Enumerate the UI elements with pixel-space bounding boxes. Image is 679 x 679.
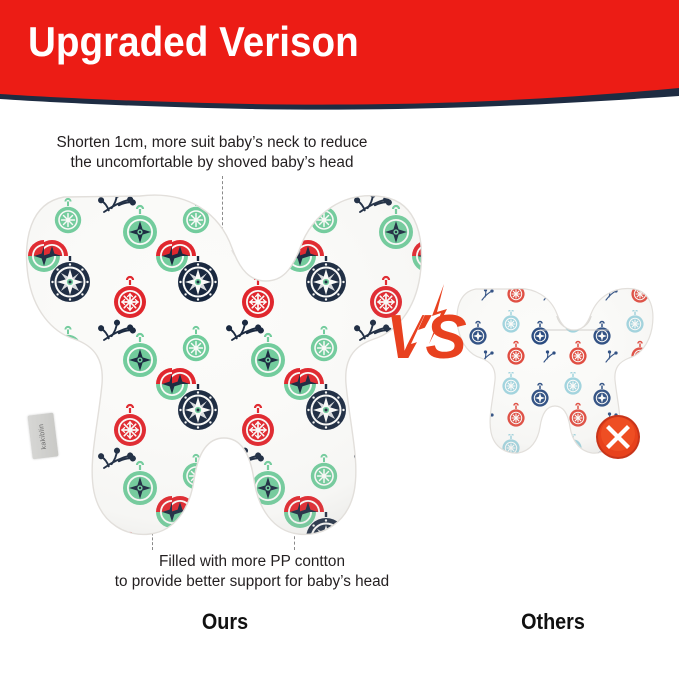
label-ours: Ours <box>171 609 279 635</box>
infographic-root: Upgraded Verison Shorten 1cm, more suit … <box>0 0 679 679</box>
leader-line-bottom-right <box>294 520 295 550</box>
versus-mark: VS <box>386 284 466 384</box>
product-image-ours <box>4 180 464 560</box>
leader-line-bottom-left <box>152 494 153 550</box>
leader-dot-top <box>219 254 226 261</box>
brand-tag: kakiblin <box>27 413 58 460</box>
top-annotation-text: Shorten 1cm, more suit baby’s neck to re… <box>22 133 402 173</box>
brand-tag-label: kakiblin <box>37 414 49 459</box>
page-title: Upgraded Verison <box>28 19 359 65</box>
label-others: Others <box>499 609 607 635</box>
bottom-annotation-text: Filled with more PP contton to provide b… <box>62 552 442 592</box>
header-banner: Upgraded Verison <box>0 0 679 120</box>
leader-dot-bottom-left <box>149 488 156 495</box>
svg-text:VS: VS <box>386 303 466 372</box>
reject-badge <box>595 414 641 460</box>
leader-line-top <box>222 176 223 256</box>
x-mark-icon <box>595 414 641 460</box>
